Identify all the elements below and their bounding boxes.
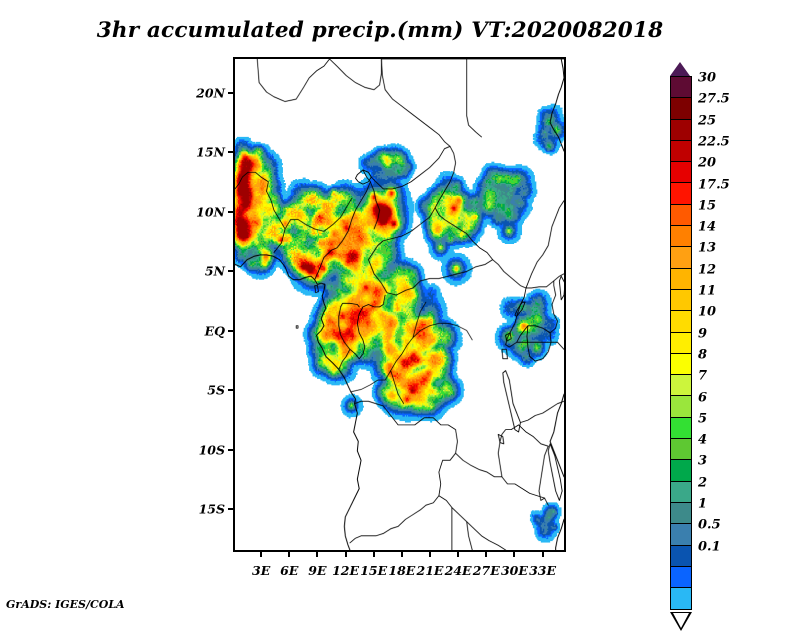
colorbar-band [671, 226, 691, 247]
colorbar-label: 12 [698, 262, 716, 277]
colorbar-bands [670, 76, 692, 610]
y-axis-tick-label: EQ [175, 323, 225, 338]
x-axis-tick [316, 552, 318, 557]
coastline-and-border-overlay [235, 59, 564, 550]
x-axis-tick [513, 552, 515, 557]
x-axis-tick-label: 33E [529, 563, 556, 578]
colorbar-band [671, 503, 691, 524]
x-axis-tick [373, 552, 375, 557]
colorbar-band [671, 375, 691, 396]
colorbar-band [671, 98, 691, 119]
colorbar-band [671, 524, 691, 545]
x-axis-tick-label: 9E [308, 563, 326, 578]
x-axis-tick-label: 24E [445, 563, 472, 578]
colorbar-label: 2 [698, 475, 707, 490]
x-axis-tick [345, 552, 347, 557]
y-axis-tick-label: 15N [175, 145, 225, 160]
colorbar-band [671, 354, 691, 375]
y-axis-tick-label: 15S [175, 502, 225, 517]
colorbar-label: 13 [698, 241, 716, 256]
colorbar-band [671, 333, 691, 354]
colorbar-band [671, 290, 691, 311]
colorbar-label: 6 [698, 390, 707, 405]
colorbar-label: 0.5 [698, 518, 721, 533]
colorbar-band [671, 546, 691, 567]
colorbar-band [671, 460, 691, 481]
map-panel[interactable] [233, 57, 566, 552]
x-axis-tick [429, 552, 431, 557]
colorbar-over-arrow-icon [670, 62, 690, 76]
x-axis-tick [542, 552, 544, 557]
y-axis-tick-label: 5N [175, 264, 225, 279]
colorbar-band [671, 269, 691, 290]
x-axis-tick [485, 552, 487, 557]
x-axis-tick-label: 6E [280, 563, 298, 578]
x-axis-tick-label: 15E [360, 563, 387, 578]
y-axis-tick [228, 330, 233, 332]
colorbar-label: 10 [698, 305, 716, 320]
x-axis-tick-label: 27E [473, 563, 500, 578]
colorbar-label: 25 [698, 113, 716, 128]
colorbar-label: 11 [698, 284, 716, 299]
y-axis-tick [228, 508, 233, 510]
colorbar-label: 8 [698, 347, 707, 362]
y-axis-tick [228, 92, 233, 94]
colorbar-label: 22.5 [698, 134, 730, 149]
y-axis-tick [228, 211, 233, 213]
y-axis-tick [228, 389, 233, 391]
y-axis-tick-label: 5S [175, 383, 225, 398]
colorbar-label: 20 [698, 156, 716, 171]
colorbar-label: 4 [698, 433, 707, 448]
grads-credit: GrADS: IGES/COLA [6, 598, 125, 611]
colorbar-label: 17.5 [698, 177, 730, 192]
colorbar-band [671, 482, 691, 503]
x-axis-tick [288, 552, 290, 557]
x-axis-tick [401, 552, 403, 557]
y-axis-tick [228, 270, 233, 272]
colorbar-band [671, 588, 691, 609]
colorbar-band [671, 183, 691, 204]
colorbar-band [671, 567, 691, 588]
colorbar-label: 0.1 [698, 539, 721, 554]
colorbar-band [671, 439, 691, 460]
colorbar-label: 30 [698, 71, 716, 86]
colorbar-band [671, 205, 691, 226]
colorbar-label: 7 [698, 369, 707, 384]
y-axis-tick-label: 10N [175, 204, 225, 219]
colorbar-label: 1 [698, 497, 707, 512]
y-axis-tick-label: 10S [175, 442, 225, 457]
x-axis-tick-label: 30E [501, 563, 528, 578]
colorbar-label: 9 [698, 326, 707, 341]
x-axis-tick [260, 552, 262, 557]
y-axis-tick [228, 449, 233, 451]
colorbar-label: 3 [698, 454, 707, 469]
page-title: 3hr accumulated precip.(mm) VT:202008201… [0, 18, 760, 43]
colorbar-band [671, 418, 691, 439]
colorbar-under-arrow-icon [670, 612, 692, 631]
x-axis-tick [457, 552, 459, 557]
colorbar-band [671, 120, 691, 141]
colorbar-band [671, 311, 691, 332]
colorbar-band [671, 162, 691, 183]
colorbar-label: 27.5 [698, 92, 730, 107]
colorbar-label: 15 [698, 198, 716, 213]
x-axis-tick-label: 12E [332, 563, 359, 578]
colorbar-band [671, 247, 691, 268]
x-axis-tick-label: 18E [388, 563, 415, 578]
colorbar-band [671, 396, 691, 417]
colorbar-label: 5 [698, 411, 707, 426]
x-axis-tick-label: 21E [417, 563, 444, 578]
y-axis-tick [228, 151, 233, 153]
y-axis-tick-label: 20N [175, 85, 225, 100]
colorbar-label: 14 [698, 220, 716, 235]
colorbar-band [671, 77, 691, 98]
colorbar-band [671, 141, 691, 162]
x-axis-tick-label: 3E [252, 563, 270, 578]
